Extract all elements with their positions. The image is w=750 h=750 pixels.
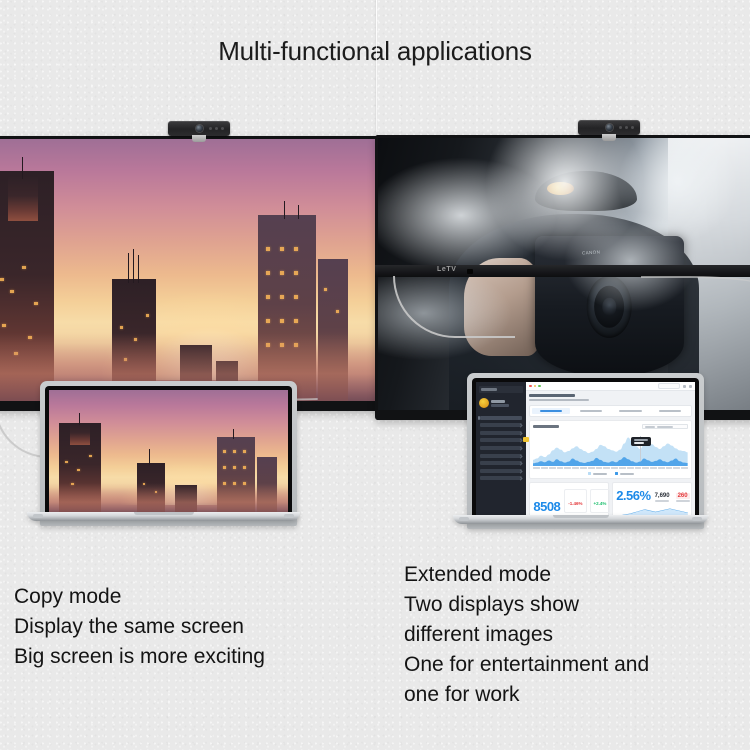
- caption-line: Display the same screen: [14, 612, 265, 642]
- chart-legend[interactable]: [533, 472, 688, 475]
- sidebar-item[interactable]: [480, 469, 522, 473]
- webcam-mic-dot: [631, 126, 634, 129]
- chart-tooltip: [631, 437, 651, 447]
- laptop-base: [453, 515, 708, 524]
- delta-value: +2.4%: [594, 501, 607, 506]
- laptop-foot: [459, 517, 469, 521]
- monitor-indicator-led: [467, 269, 473, 274]
- legend-item-dark[interactable]: [615, 472, 634, 475]
- minimize-icon[interactable]: [534, 385, 537, 388]
- delta-card: +2.4%: [590, 489, 611, 513]
- date-range-select[interactable]: [642, 424, 688, 429]
- delta-card: -1.46%: [564, 489, 586, 513]
- webcam-mic-dot: [215, 127, 218, 130]
- chevron-down-icon: [519, 477, 523, 481]
- stat-value: 8508: [533, 500, 560, 513]
- webcam: [578, 120, 640, 135]
- stat-row: 8508 -1.46%: [533, 489, 605, 513]
- monitor-screen: [0, 139, 376, 401]
- sunset-cityscape-photo: [0, 139, 376, 401]
- caption-extended-mode: Extended mode Two displays show differen…: [404, 560, 649, 710]
- sidebar-item-dashboard[interactable]: [480, 416, 522, 420]
- user-name: [491, 400, 505, 403]
- laptop-base: [27, 512, 300, 521]
- maximize-icon[interactable]: [538, 385, 541, 388]
- stat-deltas: -1.46% +2.4%: [564, 489, 610, 513]
- monitor-brand-logo: LeTV: [437, 266, 457, 273]
- secondary-value: 7,690: [655, 493, 670, 499]
- chevron-down-icon: [519, 431, 523, 435]
- caption-line: different images: [404, 620, 649, 650]
- page-title: [529, 394, 575, 397]
- dashboard-sidebar: [476, 382, 526, 518]
- menu-icon[interactable]: [689, 385, 692, 388]
- webcam-clip: [192, 135, 206, 142]
- stat-card-rate: 2.56% 7,690: [612, 482, 692, 518]
- tab-overview[interactable]: [532, 408, 570, 414]
- webcam-mic-dot: [209, 127, 212, 130]
- secondary-value: 260: [676, 493, 690, 499]
- tab-third[interactable]: [612, 408, 650, 414]
- dashboard-main: 8508 -1.46%: [526, 382, 695, 518]
- analytics-dashboard: 8508 -1.46%: [476, 382, 695, 518]
- user-meta: [491, 400, 509, 407]
- card-header: [533, 424, 688, 429]
- chart-x-axis: [533, 467, 688, 470]
- dashboard-content: 8508 -1.46%: [526, 391, 695, 518]
- legend-item-light[interactable]: [588, 472, 607, 475]
- chevron-down-icon: [519, 424, 523, 428]
- sidebar-item[interactable]: [480, 438, 522, 442]
- laptop-screen: [49, 390, 288, 515]
- chevron-down-icon: [519, 469, 523, 473]
- building-silhouette: [8, 175, 38, 221]
- card-title: [533, 425, 559, 428]
- laptop-screen: 8508 -1.46%: [476, 382, 695, 518]
- city-haze: [49, 483, 288, 516]
- external-monitor: [0, 136, 379, 411]
- caption-line: Big screen is more exciting: [14, 642, 265, 672]
- caption-line: Copy mode: [14, 582, 265, 612]
- laptop-foot: [33, 514, 43, 518]
- webcam-mic-dot: [625, 126, 628, 129]
- address-bar[interactable]: [658, 383, 680, 389]
- laptop-trackpad-notch: [133, 512, 193, 515]
- laptop-lid: [40, 381, 297, 526]
- stat-value: 2.56%: [616, 489, 650, 502]
- product-marketing-image: Multi-functional applications: [0, 0, 750, 750]
- chevron-down-icon: [519, 454, 523, 458]
- close-icon[interactable]: [529, 385, 532, 388]
- delta-value: -1.46%: [568, 501, 582, 506]
- laptop-bezel: [45, 386, 292, 519]
- stat-secondary: 7,690 260: [655, 493, 690, 502]
- camera-lens-icon: [606, 124, 613, 131]
- sidebar-item[interactable]: [480, 431, 522, 435]
- secondary-metric: 260: [676, 493, 690, 502]
- trend-area-chart: [533, 432, 688, 466]
- dashboard-user-block[interactable]: [476, 396, 526, 412]
- sidebar-item[interactable]: [480, 476, 522, 480]
- camera-lens-icon: [196, 125, 203, 132]
- panel-extended-mode: CANON LeTV: [375, 0, 750, 750]
- bullet-icon: [478, 416, 480, 420]
- building-silhouette: [70, 423, 90, 445]
- stat-cards: 8508 -1.46%: [529, 482, 692, 518]
- trend-chart-card: [529, 420, 692, 479]
- tab-fourth[interactable]: [651, 408, 689, 414]
- tab-second[interactable]: [572, 408, 610, 414]
- sidebar-item[interactable]: [480, 454, 522, 458]
- sidebar-badge: [523, 437, 529, 442]
- webcam-mic-dot: [619, 126, 622, 129]
- laptop-foot: [284, 514, 294, 518]
- laptop-lid: 8508 -1.46%: [467, 373, 704, 529]
- secondary-metric: 7,690: [655, 493, 670, 502]
- sidebar-item[interactable]: [480, 423, 522, 427]
- caption-line: one for work: [404, 680, 649, 710]
- avatar: [479, 398, 489, 408]
- secondary-label: [655, 500, 669, 502]
- star-icon[interactable]: [683, 385, 686, 388]
- topbar-actions[interactable]: [658, 383, 692, 389]
- caption-line: Extended mode: [404, 560, 649, 590]
- breadcrumb: [529, 399, 589, 401]
- building-antenna: [22, 157, 23, 179]
- laptop-bezel: 8508 -1.46%: [472, 378, 699, 522]
- chevron-down-icon: [519, 439, 523, 443]
- dashboard-logo: [479, 386, 523, 393]
- chevron-down-icon: [519, 462, 523, 466]
- window-controls[interactable]: [529, 385, 541, 388]
- chart-svg: [533, 432, 688, 466]
- webcam-clip: [602, 134, 616, 141]
- secondary-label: [676, 500, 690, 502]
- sidebar-item[interactable]: [480, 446, 522, 450]
- caption-line: One for entertainment and: [404, 650, 649, 680]
- stat-row: 2.56% 7,690: [616, 489, 688, 502]
- monitor-stand-edge: [641, 276, 750, 292]
- caption-copy-mode: Copy mode Display the same screen Big sc…: [14, 582, 265, 672]
- webcam: [168, 121, 230, 136]
- stat-sparkline: [616, 504, 688, 514]
- chevron-down-icon: [519, 446, 523, 450]
- panel-copy-mode: Copy mode Display the same screen Big sc…: [0, 0, 375, 750]
- laptop-trackpad-notch: [552, 515, 608, 518]
- sunset-cityscape-photo: [49, 390, 288, 515]
- laptop-foot: [692, 517, 702, 521]
- sidebar-item[interactable]: [480, 461, 522, 465]
- tab-bar[interactable]: [529, 405, 692, 417]
- stat-card-visitors: 8508 -1.46%: [529, 482, 609, 518]
- user-role: [491, 404, 509, 407]
- caption-line: Two displays show: [404, 590, 649, 620]
- browser-topbar: [526, 382, 695, 391]
- webcam-mic-dot: [221, 127, 224, 130]
